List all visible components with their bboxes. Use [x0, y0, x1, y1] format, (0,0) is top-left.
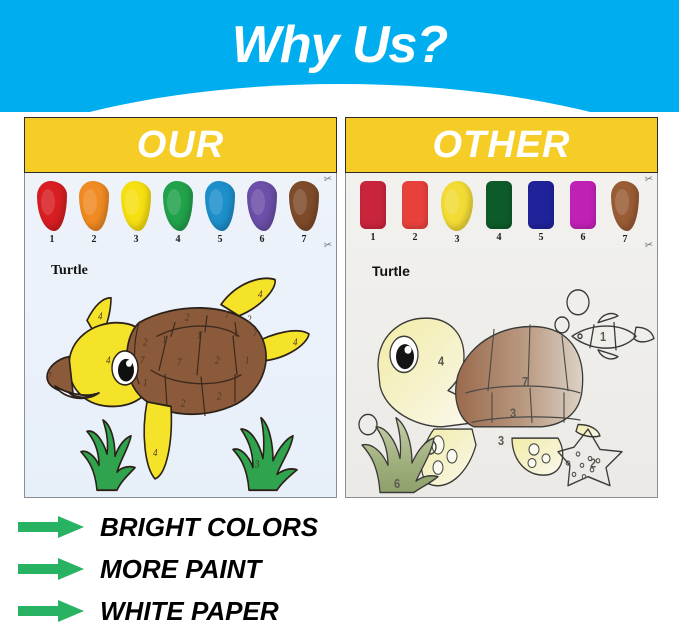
paint-blob: [247, 181, 277, 231]
paint-swatch: 3: [115, 181, 157, 245]
paint-swatch: 5: [520, 181, 562, 243]
benefit-item-bright-colors: BRIGHT COLORS: [0, 506, 679, 548]
svg-text:1: 1: [162, 335, 167, 347]
svg-text:2: 2: [185, 312, 190, 324]
turtle-eye: [390, 336, 418, 372]
svg-text:2: 2: [590, 457, 597, 471]
paint-swatch: 4: [478, 181, 520, 243]
paint-blob: [79, 181, 109, 231]
paint-blob: [360, 181, 386, 229]
svg-text:4: 4: [438, 355, 445, 369]
svg-text:4: 4: [106, 355, 111, 367]
svg-text:1: 1: [197, 330, 202, 342]
svg-text:4: 4: [258, 289, 263, 301]
benefit-label: BRIGHT COLORS: [100, 512, 318, 543]
paint-swatch: 1: [352, 181, 394, 243]
svg-text:3: 3: [254, 459, 260, 471]
paint-swatch: 4: [157, 181, 199, 245]
artwork-other: Turtle: [346, 257, 657, 497]
paint-swatch-number: 7: [302, 234, 307, 245]
column-heading-other-label: OTHER: [433, 125, 571, 165]
paint-blob: [402, 181, 428, 229]
arrow-right-icon: [18, 558, 84, 580]
paint-blob: [289, 181, 319, 231]
svg-text:2: 2: [217, 391, 222, 403]
sample-paper-other: ✂ ✂ 1 2 3 4: [345, 173, 658, 498]
page-header: Why Us?: [0, 0, 679, 112]
paint-swatch-row-our: 1 2 3 4 5: [31, 181, 329, 257]
turtle-illustration-vivid: 4 4 4 7 4 4 2 7 2 1 1 1 7 2 7: [25, 257, 336, 497]
paint-swatch: 1: [31, 181, 73, 245]
paint-swatch-number: 2: [92, 234, 97, 245]
comparison-column-other: OTHER ✂ ✂ 1 2 3 4: [345, 117, 658, 498]
paint-blob: [121, 181, 151, 231]
paint-blob: [163, 181, 193, 231]
paint-swatch-number: 1: [371, 232, 376, 243]
svg-text:1: 1: [600, 330, 607, 344]
paint-swatch: 6: [241, 181, 283, 245]
svg-text:2: 2: [181, 398, 186, 410]
benefit-item-white-paper: WHITE PAPER: [0, 590, 679, 632]
column-heading-other: OTHER: [345, 117, 658, 173]
turtle-illustration-faded: 4 7 3 3 6 1 2: [346, 257, 657, 497]
paint-blob: [611, 181, 639, 231]
paint-swatch: 5: [199, 181, 241, 245]
paint-blob: [570, 181, 596, 229]
svg-text:1: 1: [143, 378, 148, 390]
paint-swatch: 2: [73, 181, 115, 245]
column-heading-our: OUR: [24, 117, 337, 173]
svg-text:3: 3: [498, 434, 505, 448]
svg-text:2: 2: [247, 314, 252, 326]
paint-swatch-number: 5: [539, 232, 544, 243]
benefits-list: BRIGHT COLORS MORE PAINT WHITE PAPER: [0, 506, 679, 632]
paint-swatch-number: 4: [497, 232, 502, 243]
paint-swatch: 3: [436, 181, 478, 245]
comparison-panels: OUR ✂ ✂ 1 2 3 4: [24, 117, 658, 498]
paint-swatch-number: 3: [455, 234, 460, 245]
paint-swatch-number: 3: [134, 234, 139, 245]
svg-text:1: 1: [245, 355, 250, 367]
comparison-column-our: OUR ✂ ✂ 1 2 3 4: [24, 117, 337, 498]
benefit-item-more-paint: MORE PAINT: [0, 548, 679, 590]
svg-text:7: 7: [522, 375, 529, 389]
paint-swatch-number: 2: [413, 232, 418, 243]
paint-swatch-number: 5: [218, 234, 223, 245]
paint-blob: [486, 181, 512, 229]
paint-swatch: 7: [283, 181, 325, 245]
paint-swatch: 2: [394, 181, 436, 243]
svg-text:4: 4: [153, 448, 158, 460]
paint-swatch-number: 4: [176, 234, 181, 245]
svg-text:2: 2: [215, 355, 220, 367]
svg-text:1: 1: [233, 328, 238, 340]
benefit-label: MORE PAINT: [100, 554, 261, 585]
sample-paper-our: ✂ ✂ 1 2 3 4: [24, 173, 337, 498]
paint-blob: [37, 181, 67, 231]
paint-swatch-number: 6: [260, 234, 265, 245]
svg-text:4: 4: [98, 311, 103, 323]
header-wave-decoration: [0, 84, 679, 112]
benefit-label: WHITE PAPER: [100, 596, 279, 627]
paint-blob: [205, 181, 235, 231]
svg-text:3: 3: [510, 407, 517, 421]
svg-text:2: 2: [143, 337, 148, 349]
paint-swatch-number: 6: [581, 232, 586, 243]
arrow-right-icon: [18, 600, 84, 622]
artwork-our: Turtle: [25, 257, 336, 497]
paint-swatch-number: 1: [50, 234, 55, 245]
page-title: Why Us?: [0, 16, 679, 74]
paint-swatch-number: 7: [623, 234, 628, 245]
paint-swatch-row-other: 1 2 3 4 5: [352, 181, 650, 257]
paint-blob: [441, 181, 473, 231]
column-heading-our-label: OUR: [137, 125, 224, 165]
paint-swatch: 7: [604, 181, 646, 245]
turtle-eye: [112, 351, 138, 385]
paint-blob: [528, 181, 554, 229]
svg-text:4: 4: [293, 337, 298, 349]
arrow-right-icon: [18, 516, 84, 538]
paint-swatch: 6: [562, 181, 604, 243]
svg-text:6: 6: [394, 477, 401, 491]
